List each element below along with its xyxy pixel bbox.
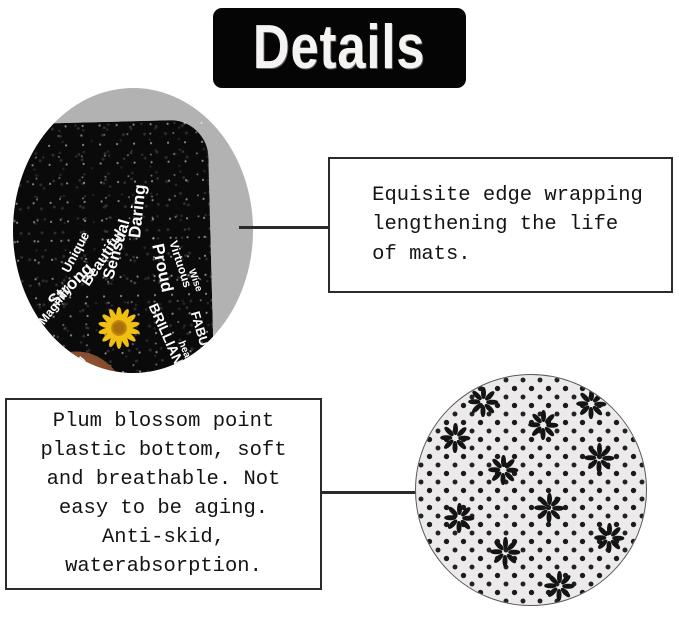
- blossom-petal: [440, 436, 452, 441]
- plum-blossom-point: [544, 571, 574, 601]
- blossom-petal: [528, 423, 540, 428]
- connector-line-top: [239, 226, 331, 229]
- blossom-petal: [576, 402, 588, 407]
- details-banner: Details: [213, 8, 466, 88]
- plum-blossom-point: [490, 537, 520, 567]
- callout-plastic-bottom-text: Plum blossom point plastic bottom, soft …: [40, 407, 286, 582]
- blossom-petal: [607, 541, 612, 553]
- callout-edge-wrapping-text: Equisite edge wrapping lengthening the l…: [358, 181, 643, 268]
- plum-blossom-point: [488, 455, 518, 485]
- callout-plastic-bottom: Plum blossom point plastic bottom, soft …: [5, 398, 322, 590]
- connector-line-bottom: [320, 491, 418, 494]
- blossom-petal: [468, 400, 480, 405]
- sunflower-icon: [98, 307, 140, 349]
- blossom-petal: [597, 461, 602, 473]
- blossom-petal: [600, 459, 612, 471]
- blossom-petal: [560, 587, 572, 599]
- blossom-petal: [457, 521, 462, 533]
- plum-blossom-point: [594, 523, 624, 553]
- blossom-petal: [456, 439, 468, 451]
- blossom-petal: [453, 441, 458, 453]
- plum-blossom-point: [528, 410, 558, 440]
- blossom-petal: [501, 473, 506, 485]
- blossom-petal: [594, 536, 606, 541]
- callout-edge-wrapping: Equisite edge wrapping lengthening the l…: [328, 157, 673, 293]
- blossom-petal: [541, 428, 546, 440]
- sunflower-center: [111, 320, 127, 336]
- mat-backing-photo: [415, 374, 647, 606]
- blossom-petal: [534, 506, 546, 511]
- plum-blossom-point: [444, 503, 474, 533]
- blossom-petal: [589, 407, 594, 419]
- plum-blossom-point: [576, 389, 606, 419]
- dot-grid-texture: [415, 374, 647, 606]
- details-banner-title: Details: [253, 17, 425, 79]
- blossom-petal: [488, 468, 500, 473]
- blossom-petal: [506, 553, 518, 565]
- blossom-petal: [481, 405, 486, 417]
- blossom-petal: [584, 456, 596, 461]
- plum-blossom-point: [534, 493, 564, 523]
- plum-blossom-point: [584, 443, 614, 473]
- blossom-petal: [444, 516, 456, 521]
- blossom-petal: [460, 519, 472, 531]
- product-details-image: Details UniqueBeautifulStrongMagnifySens…: [0, 0, 679, 619]
- blossom-petal: [544, 584, 556, 589]
- blossom-petal: [544, 426, 556, 438]
- blossom-petal: [503, 555, 508, 567]
- blossom-petal: [550, 509, 562, 521]
- blossom-petal: [484, 403, 496, 415]
- blossom-petal: [610, 539, 622, 551]
- mat-front-photo: UniqueBeautifulStrongMagnifySensualDarin…: [13, 88, 253, 373]
- blossom-petal: [557, 589, 562, 601]
- blossom-petal: [504, 471, 516, 483]
- blossom-petal: [547, 511, 552, 523]
- blossom-petal: [490, 550, 502, 555]
- plum-blossom-point: [468, 387, 498, 417]
- blossom-petal: [592, 405, 604, 417]
- plum-blossom-point: [440, 423, 470, 453]
